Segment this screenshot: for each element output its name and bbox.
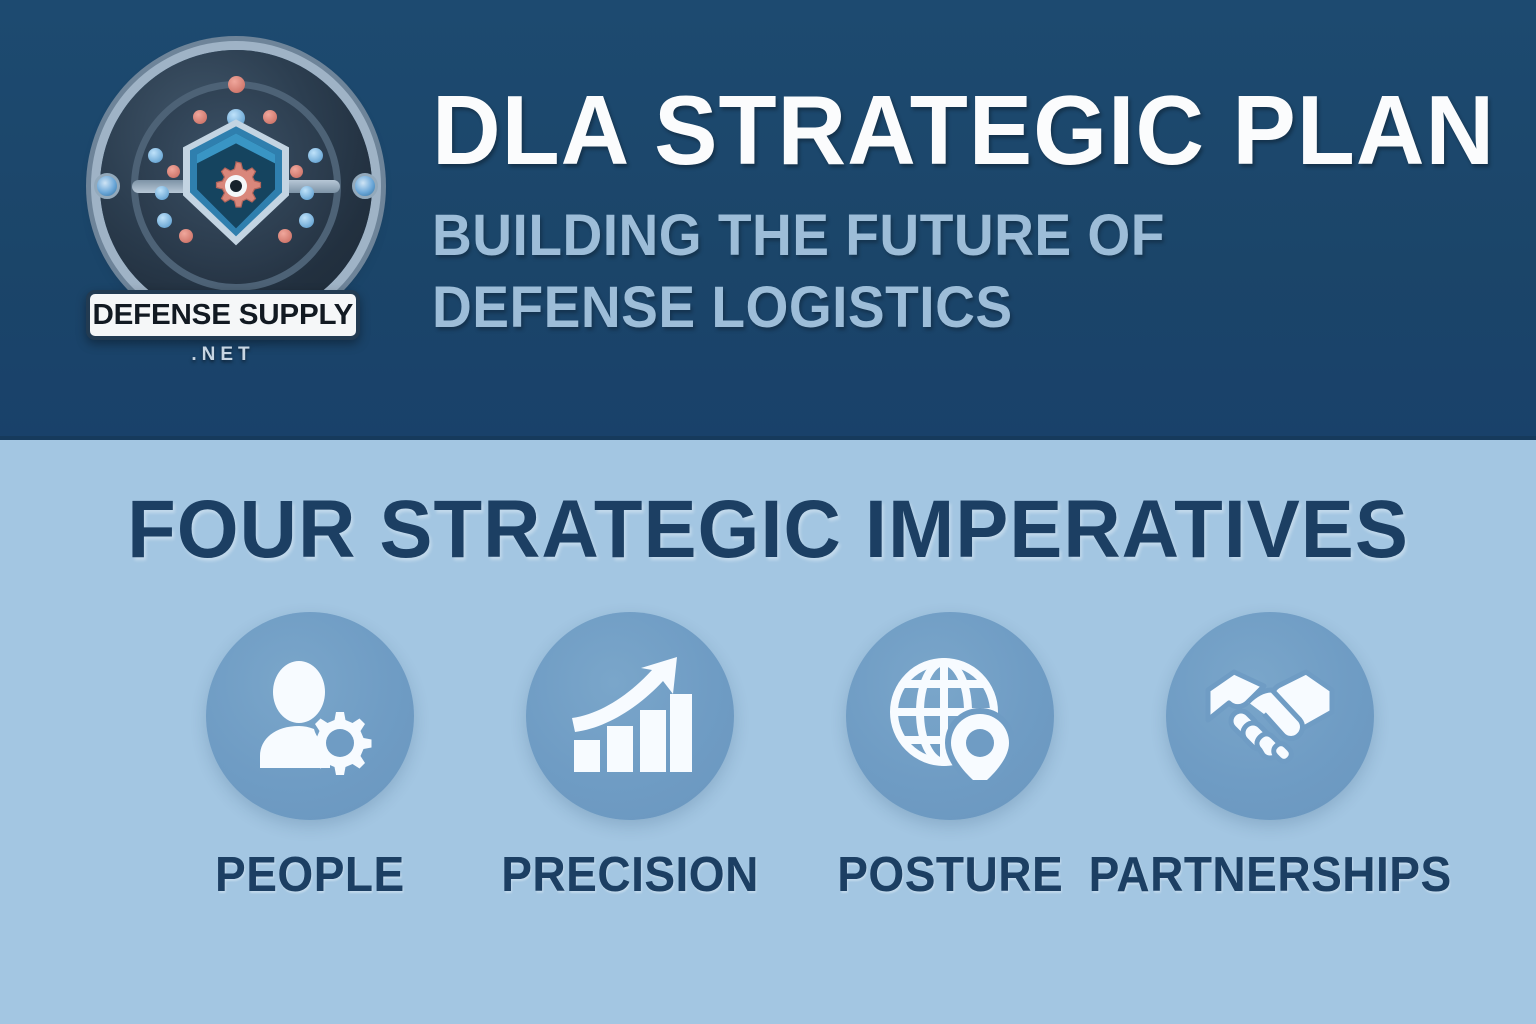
page-subtitle-line-1: BUILDING THE FUTURE OF (432, 200, 1439, 272)
logo-nameplate: DEFENSE SUPPLY (86, 290, 360, 340)
pillar-posture: POSTURE (800, 612, 1100, 902)
globe-location-pin-icon (886, 652, 1014, 780)
pillar-posture-circle (846, 612, 1054, 820)
infographic-canvas: DEFENSE SUPPLY .NET DLA STRATEGIC PLAN B… (0, 0, 1536, 1024)
pillar-posture-label: POSTURE (837, 848, 1063, 902)
pillar-people-circle (206, 612, 414, 820)
shield-gear-emblem-icon (100, 50, 372, 322)
pillar-partnerships-circle (1166, 612, 1374, 820)
strategic-imperatives-row: PEOPLE PRECISION (160, 612, 1420, 902)
gear-icon (209, 159, 263, 213)
page-subtitle: BUILDING THE FUTURE OF DEFENSE LOGISTICS (432, 200, 1439, 344)
bar-chart-growth-arrow-icon (566, 652, 694, 780)
logo-tld-text: .NET (86, 344, 360, 366)
pillar-precision-label: PRECISION (501, 848, 759, 902)
pillar-precision-circle (526, 612, 734, 820)
defense-supply-logo: DEFENSE SUPPLY .NET (86, 44, 386, 374)
page-title: DLA STRATEGIC PLAN (432, 78, 1460, 182)
header-text-block: DLA STRATEGIC PLAN BUILDING THE FUTURE O… (432, 78, 1492, 344)
pillar-partnerships-label: PARTNERSHIPS (1088, 848, 1451, 902)
pillar-people-label: PEOPLE (215, 848, 405, 902)
page-subtitle-line-2: DEFENSE LOGISTICS (432, 272, 1439, 344)
logo-nameplate-text: DEFENSE SUPPLY (93, 299, 354, 332)
pillar-people: PEOPLE (160, 612, 460, 902)
user-gear-icon (246, 652, 374, 780)
handshake-icon (1204, 650, 1336, 782)
section-heading: FOUR STRATEGIC IMPERATIVES (23, 487, 1513, 573)
pillar-precision: PRECISION (480, 612, 780, 902)
pillar-partnerships: PARTNERSHIPS (1120, 612, 1420, 902)
